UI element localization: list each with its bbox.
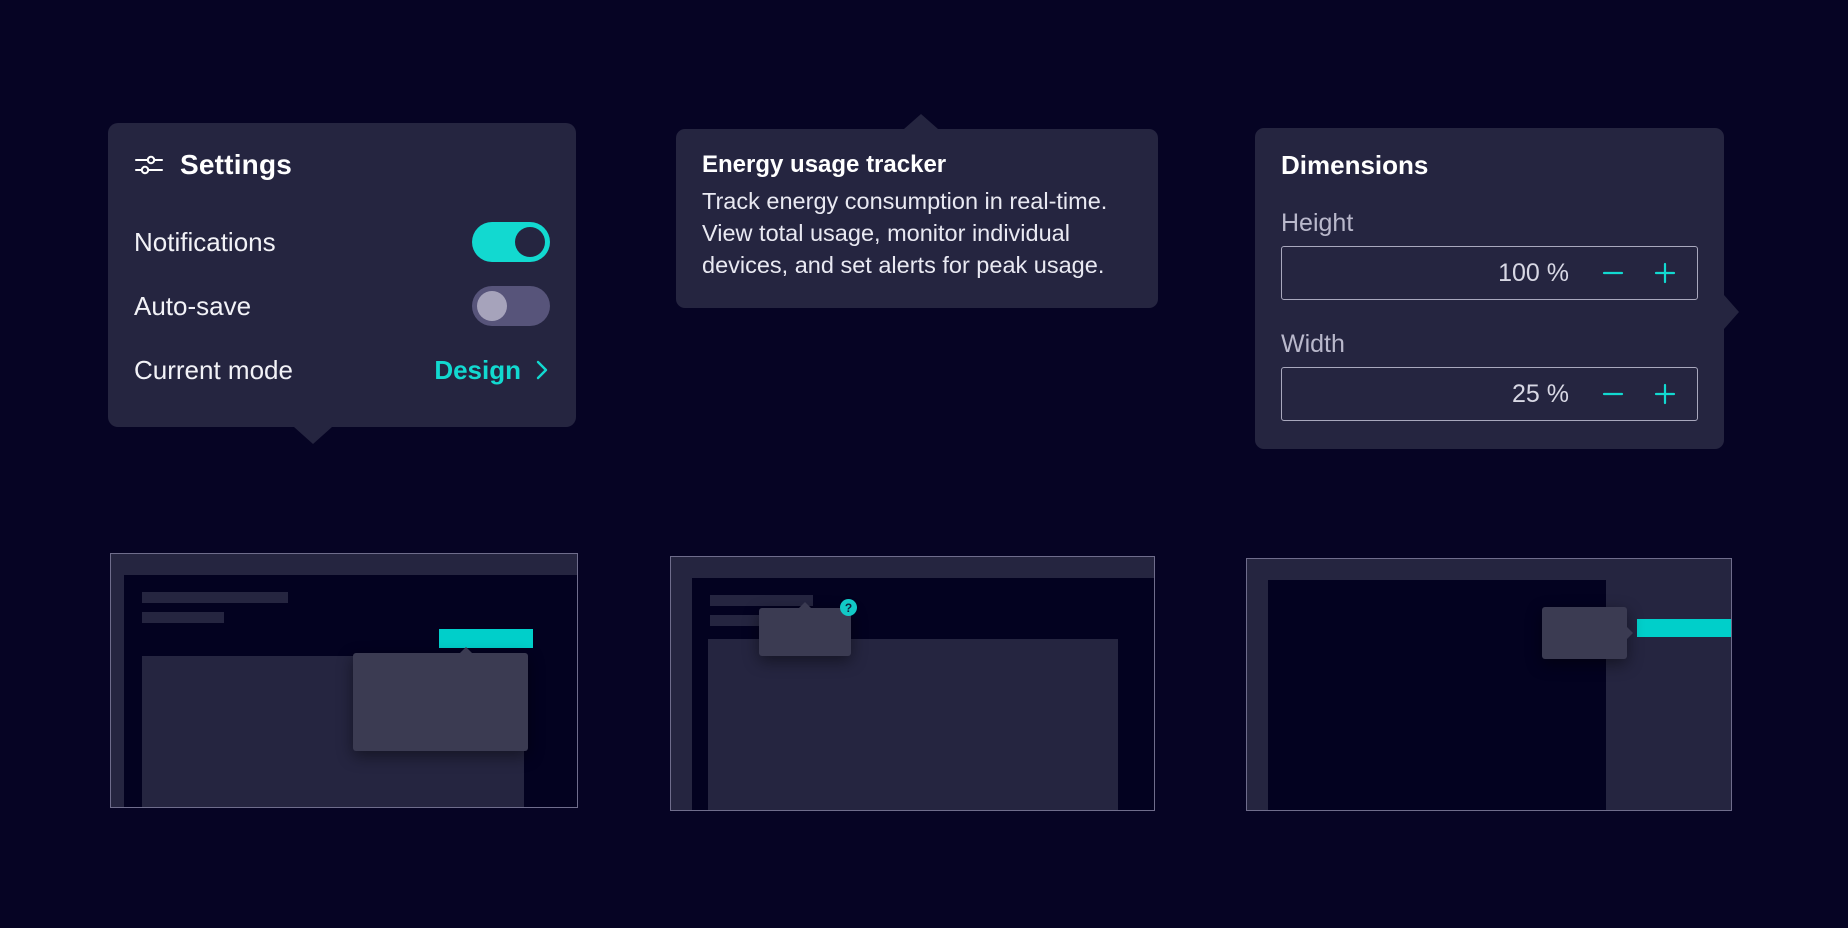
wireframe-accent-button[interactable]	[439, 629, 533, 648]
wireframe-content-block	[708, 639, 1118, 811]
tooltip-panel: Energy usage tracker Track energy consum…	[676, 129, 1158, 308]
minus-icon	[1600, 381, 1626, 407]
tooltip-body: Track energy consumption in real-time. V…	[702, 185, 1132, 282]
height-value: 100 %	[1498, 259, 1569, 288]
width-field-label: Width	[1281, 330, 1698, 359]
width-value: 25 %	[1512, 380, 1569, 409]
current-mode-link[interactable]: Design	[434, 355, 550, 386]
wireframe-text-bar	[142, 612, 224, 623]
plus-icon	[1652, 381, 1678, 407]
dimensions-panel: Dimensions Height 100 % Wid	[1255, 128, 1724, 449]
settings-row-label: Current mode	[134, 355, 293, 386]
settings-row-auto-save: Auto-save	[134, 279, 550, 333]
settings-row-label: Auto-save	[134, 291, 251, 322]
width-stepper[interactable]: 25 %	[1281, 367, 1698, 421]
tooltip-arrow	[904, 114, 938, 129]
notifications-toggle[interactable]	[472, 222, 550, 262]
toggle-knob	[477, 291, 507, 321]
height-decrement-button[interactable]	[1587, 247, 1639, 299]
wireframe-text-bar	[142, 592, 288, 603]
wireframe-card-3[interactable]	[1246, 558, 1732, 811]
settings-panel: Settings Notifications Auto-save Current…	[108, 123, 576, 427]
dimensions-panel-arrow	[1724, 295, 1739, 329]
minus-icon	[1600, 260, 1626, 286]
settings-row-label: Notifications	[134, 227, 276, 258]
settings-row-notifications: Notifications	[134, 215, 550, 269]
toggle-knob	[515, 227, 545, 257]
wireframe-popover	[1542, 607, 1627, 659]
settings-title: Settings	[180, 149, 292, 181]
height-stepper[interactable]: 100 %	[1281, 246, 1698, 300]
canvas-root: Settings Notifications Auto-save Current…	[0, 0, 1848, 928]
sliders-icon	[134, 152, 164, 178]
height-increment-button[interactable]	[1639, 247, 1691, 299]
wireframe-popover	[759, 608, 851, 656]
width-increment-button[interactable]	[1639, 368, 1691, 420]
wireframe-text-bar	[710, 595, 813, 606]
wireframe-accent-button[interactable]	[1637, 619, 1732, 637]
chevron-right-icon	[535, 358, 550, 382]
current-mode-value: Design	[434, 355, 521, 386]
dimensions-title: Dimensions	[1281, 150, 1698, 181]
help-icon[interactable]: ?	[840, 599, 857, 616]
wireframe-popover-arrow	[799, 602, 811, 608]
settings-row-current-mode: Current mode Design	[134, 343, 550, 397]
plus-icon	[1652, 260, 1678, 286]
auto-save-toggle[interactable]	[472, 286, 550, 326]
wireframe-card-1[interactable]	[110, 553, 578, 808]
settings-header: Settings	[134, 149, 550, 181]
wireframe-popover	[353, 653, 528, 751]
width-decrement-button[interactable]	[1587, 368, 1639, 420]
wireframe-popover-arrow	[460, 647, 472, 653]
wireframe-card-2[interactable]: ?	[670, 556, 1155, 811]
wireframe-popover-arrow	[1627, 627, 1633, 639]
settings-panel-tail	[294, 427, 332, 444]
height-field-label: Height	[1281, 209, 1698, 238]
tooltip-title: Energy usage tracker	[702, 151, 1132, 179]
